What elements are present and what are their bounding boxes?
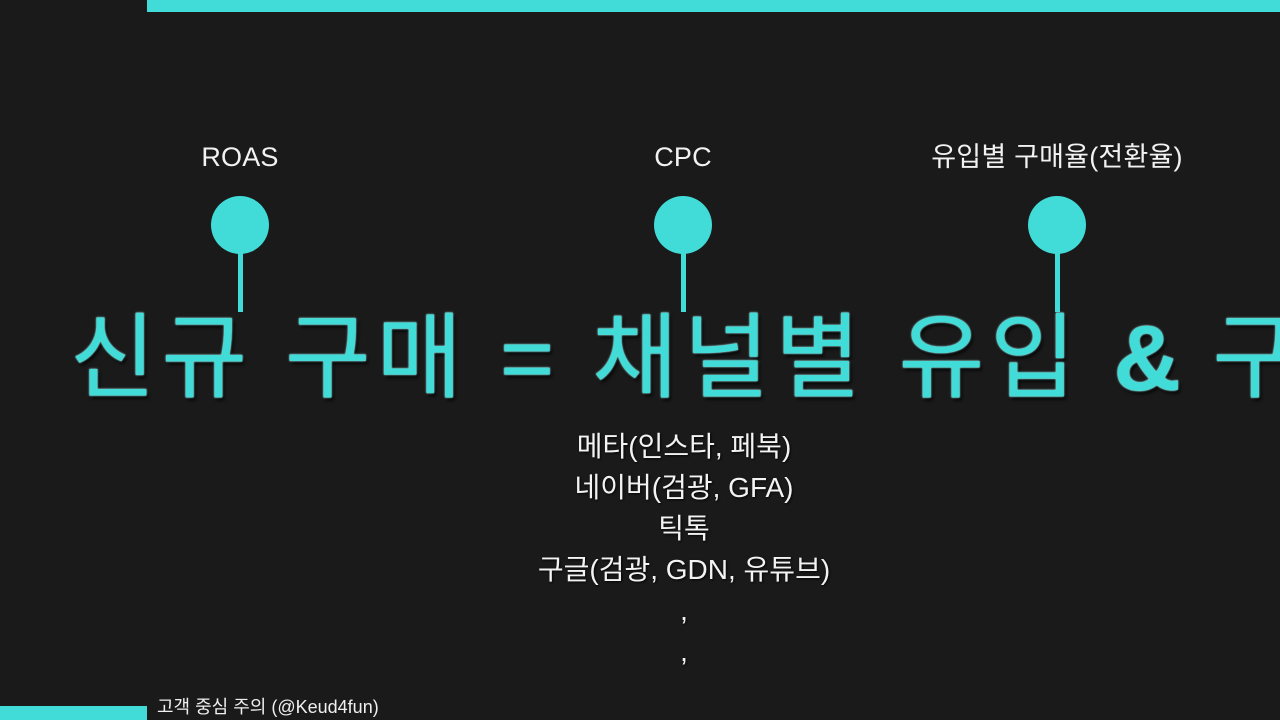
metric-pin-label: ROAS: [90, 140, 390, 174]
metric-pin-conversion-rate: 유입별 구매율(전환율): [907, 140, 1207, 294]
metric-pin-roas: ROAS: [90, 140, 390, 294]
channel-list: 메타(인스타, 페북) 네이버(검광, GFA) 틱톡 구글(검광, GDN, …: [0, 426, 1280, 672]
metric-pin-label: 유입별 구매율(전환율): [907, 140, 1207, 174]
pin-marker-icon: [533, 174, 833, 294]
channel-list-item: 틱톡: [0, 508, 1280, 549]
presentation-slide: ROAS CPC 유입별 구매율(전환율) 신규 구매 = 채널별 유입 & 구…: [0, 0, 1280, 720]
headline-part-1: 신규 구매 = 채널별 유입: [70, 306, 1114, 410]
channel-list-item: 메타(인스타, 페북): [0, 426, 1280, 467]
pin-circle-icon: [1028, 196, 1086, 254]
pin-circle-icon: [211, 196, 269, 254]
top-accent-bar: [147, 0, 1280, 12]
metric-pin-cpc: CPC: [533, 140, 833, 294]
channel-list-item: 구글(검광, GDN, 유튜브): [0, 549, 1280, 590]
channel-list-item: ,: [0, 631, 1280, 672]
metric-pin-label: CPC: [533, 140, 833, 174]
pin-marker-icon: [907, 174, 1207, 294]
channel-list-item: ,: [0, 590, 1280, 631]
headline-ampersand: &: [1114, 306, 1181, 410]
pin-stem-icon: [1055, 252, 1060, 312]
headline-part-2: 구매수: [1181, 306, 1280, 410]
channel-list-item: 네이버(검광, GFA): [0, 467, 1280, 508]
bottom-accent-bar: [0, 706, 147, 720]
pin-marker-icon: [90, 174, 390, 294]
pin-circle-icon: [654, 196, 712, 254]
headline-equation: 신규 구매 = 채널별 유입 & 구매수: [70, 306, 1280, 410]
pin-stem-icon: [681, 252, 686, 312]
pin-stem-icon: [238, 252, 243, 312]
footer-credit: 고객 중심 주의 (@Keud4fun): [157, 696, 379, 718]
